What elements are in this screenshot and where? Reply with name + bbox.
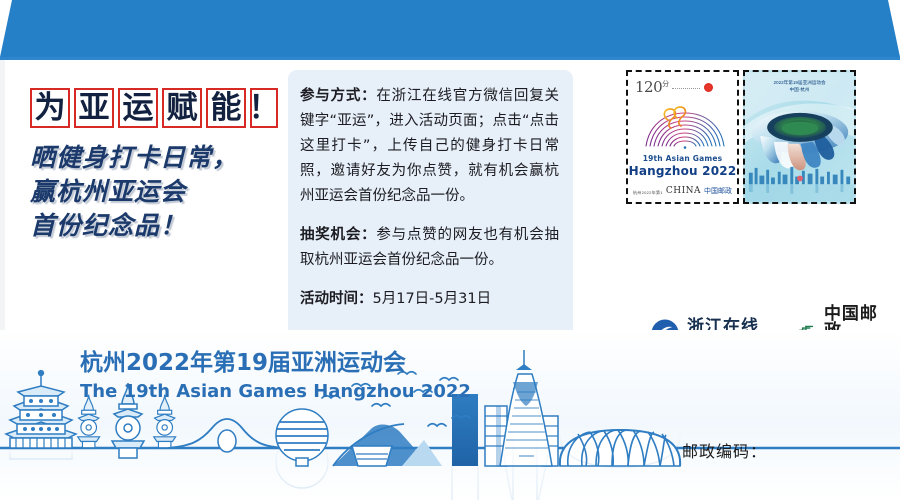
svg-text:杭州2022年第19届亚洲运动会: 杭州2022年第19届亚洲运动会 [80, 349, 406, 376]
info-panel: 参与方式：在浙江在线官方微信回复关键字“亚运”，进入活动页面；点击“点击这里打卡… [288, 70, 573, 345]
headline-block: 为 亚 运 赋 能 ！ 晒健身打卡日常， 赢杭州亚运会 首份纪念品！ [30, 88, 280, 243]
boxed-char-3: 运 [118, 88, 158, 128]
boxed-char-6: ！ [250, 88, 278, 128]
stamp-flower-icon [704, 83, 713, 92]
boxed-char-5: 能 [206, 88, 246, 128]
asian-games-emblem-icon [640, 98, 730, 150]
header-banner [0, 0, 900, 57]
boxed-headline: 为 亚 运 赋 能 ！ [30, 88, 280, 128]
stamp-right-caption-line2: 中国·杭州 [745, 86, 854, 93]
stamp-denomination: 120分 [635, 78, 669, 96]
stamp-asian-games-emblem: 120分 [626, 70, 739, 204]
sub-headline: 晒健身打卡日常， 赢杭州亚运会 首份纪念品！ [30, 141, 280, 243]
postal-code-label: 邮政编码： [682, 438, 767, 462]
stamp-name-en-small: 19th Asian Games [628, 154, 737, 163]
stamp-dot-rule [672, 88, 700, 90]
poster-page: 为 亚 运 赋 能 ！ 晒健身打卡日常， 赢杭州亚运会 首份纪念品！ 参与方式：… [0, 0, 900, 500]
info-paragraph-duration: 活动时间：5月17日-5月31日 [300, 287, 559, 312]
sub-headline-line-3: 首份纪念品！ [30, 209, 280, 243]
info-label-lottery: 抽奖机会： [300, 227, 376, 243]
info-label-duration: 活动时间： [300, 291, 373, 307]
skyline-band: 杭州2022年第19届亚洲运动会 The 19th Asian Games Ha… [0, 330, 900, 500]
stamp-right-caption-line1: 2022年第19届亚洲运动会 [745, 79, 854, 86]
stamp-stadium: 2022年第19届亚洲运动会 中国·杭州 [743, 70, 856, 204]
info-text-participation: 在浙江在线官方微信回复关键字“亚运”，进入活动页面；点击“点击这里打卡”，上传自… [300, 88, 559, 204]
info-label-participation: 参与方式： [300, 88, 376, 104]
hangzhou-skyline-illustration: 杭州2022年第19届亚洲运动会 The 19th Asian Games Ha… [0, 330, 900, 500]
info-text-duration: 5月17日-5月31日 [373, 291, 492, 307]
stamp-tiny-cn: 杭州2022年第19届亚洲运动会 [633, 190, 663, 196]
boxed-char-2: 亚 [74, 88, 114, 128]
stamp-denomination-unit: 分 [662, 80, 669, 88]
boxed-char-4: 赋 [162, 88, 202, 128]
sub-headline-line-1: 晒健身打卡日常， [30, 141, 280, 175]
stamp-country-cn: 中国邮政 [704, 186, 732, 196]
stamp-name-en-big: Hangzhou 2022 [628, 164, 737, 178]
info-paragraph-participation: 参与方式：在浙江在线官方微信回复关键字“亚运”，进入活动页面；点击“点击这里打卡… [300, 84, 559, 209]
sub-headline-line-2: 赢杭州亚运会 [30, 175, 280, 209]
svg-text:The 19th Asian Games Hangzhou: The 19th Asian Games Hangzhou 2022 [80, 381, 471, 402]
stamp-right-caption: 2022年第19届亚洲运动会 中国·杭州 [745, 79, 854, 93]
stamp-block: 120分 [626, 70, 858, 204]
boxed-char-1: 为 [30, 88, 70, 128]
info-paragraph-lottery: 抽奖机会：参与点赞的网友也有机会抽取杭州亚运会首份纪念品一份。 [300, 223, 559, 273]
stamp-footer: 杭州2022年第19届亚洲运动会 CHINA 中国邮政 [633, 186, 732, 196]
stamp-country-en: CHINA [666, 186, 701, 196]
